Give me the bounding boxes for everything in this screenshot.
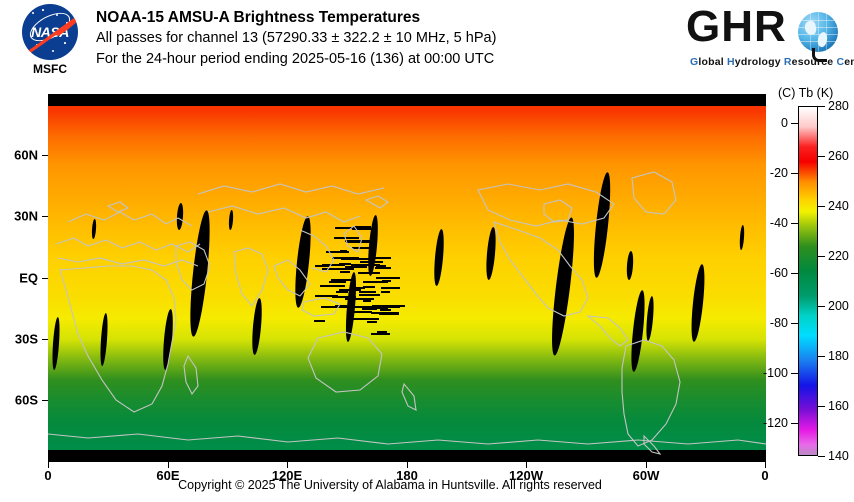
y-tick: [42, 400, 48, 401]
colorbar-kelvin-label: 200: [828, 299, 849, 313]
colorbar-kelvin-label: 280: [828, 99, 849, 113]
colorbar-kelvin-label: 160: [828, 399, 849, 413]
colorbar-celsius-tick: [791, 423, 798, 424]
y-tick: [42, 339, 48, 340]
colorbar-gradient: [799, 107, 817, 455]
colorbar-kelvin-tick: [818, 256, 825, 257]
ghrc-tagline-r: R: [784, 56, 792, 68]
colorbar-celsius-label: -60: [770, 266, 788, 280]
ghrc-wordmark: GHR: [686, 2, 787, 52]
title-block: NOAA-15 AMSU-A Brightness Temperatures A…: [96, 8, 496, 70]
colorbar-celsius-label: -100: [763, 366, 788, 380]
coastline-overlay: [48, 94, 766, 462]
y-axis-label-60s: 60S: [15, 393, 38, 408]
y-axis-label-eq: EQ: [19, 271, 38, 286]
colorbar-celsius-tick: [791, 223, 798, 224]
y-tick: [42, 216, 48, 217]
ghrc-tagline: Global Hydrology Resource Center: [690, 56, 854, 68]
subtitle-channel: All passes for channel 13 (57290.33 ± 32…: [96, 28, 496, 49]
nasa-msfc-logo: NASA MSFC: [14, 4, 86, 82]
ghrc-tagline-ydrology: ydrology: [735, 56, 784, 68]
colorbar-kelvin-label: 220: [828, 249, 849, 263]
colorbar-kelvin-label: 260: [828, 149, 849, 163]
nasa-meatball-icon: NASA: [22, 4, 78, 60]
ghrc-logo: GHR Global Hydrology Resource Center: [686, 4, 846, 74]
colorbar-kelvin-tick: [818, 106, 825, 107]
colorbar-kelvin-tick: [818, 306, 825, 307]
colorbar: [798, 106, 818, 456]
colorbar-celsius-label: -120: [763, 416, 788, 430]
colorbar-celsius-tick: [791, 123, 798, 124]
copyright-notice: Copyright © 2025 The University of Alaba…: [0, 478, 780, 492]
y-tick: [42, 155, 48, 156]
map-plot-area: [48, 94, 766, 462]
colorbar-celsius-tick: [791, 273, 798, 274]
colorbar-kelvin-tick: [818, 406, 825, 407]
colorbar-kelvin-tick: [818, 356, 825, 357]
ghrc-tagline-lobal: lobal: [698, 56, 727, 68]
subtitle-period: For the 24-hour period ending 2025-05-16…: [96, 49, 496, 70]
ghrc-tagline-enter: enter: [844, 56, 854, 68]
nasa-swoosh-icon: [24, 8, 78, 56]
colorbar-celsius-tick: [791, 373, 798, 374]
colorbar-celsius-tick: [791, 323, 798, 324]
colorbar-celsius-label: -80: [770, 316, 788, 330]
colorbar-celsius-label: -40: [770, 216, 788, 230]
colorbar-kelvin-tick: [818, 156, 825, 157]
colorbar-header: (C) Tb (K): [778, 86, 833, 100]
msfc-label: MSFC: [14, 62, 86, 76]
y-axis-label-60n: 60N: [14, 148, 38, 163]
ghrc-tagline-h: H: [727, 56, 735, 68]
y-tick: [42, 278, 48, 279]
y-axis-label-30n: 30N: [14, 209, 38, 224]
ghrc-globe-icon: [798, 12, 838, 52]
page-title: NOAA-15 AMSU-A Brightness Temperatures: [96, 8, 496, 28]
colorbar-kelvin-label: 180: [828, 349, 849, 363]
colorbar-kelvin-label: 240: [828, 199, 849, 213]
colorbar-kelvin-tick: [818, 206, 825, 207]
colorbar-celsius-label: 0: [781, 116, 788, 130]
colorbar-celsius-tick: [791, 173, 798, 174]
map-canvas: [48, 94, 766, 462]
colorbar-kelvin-label: 140: [828, 449, 849, 463]
colorbar-celsius-label: -20: [770, 166, 788, 180]
ghrc-tagline-esource: esource: [792, 56, 837, 68]
y-axis-label-30s: 30S: [15, 332, 38, 347]
colorbar-kelvin-tick: [818, 456, 825, 457]
